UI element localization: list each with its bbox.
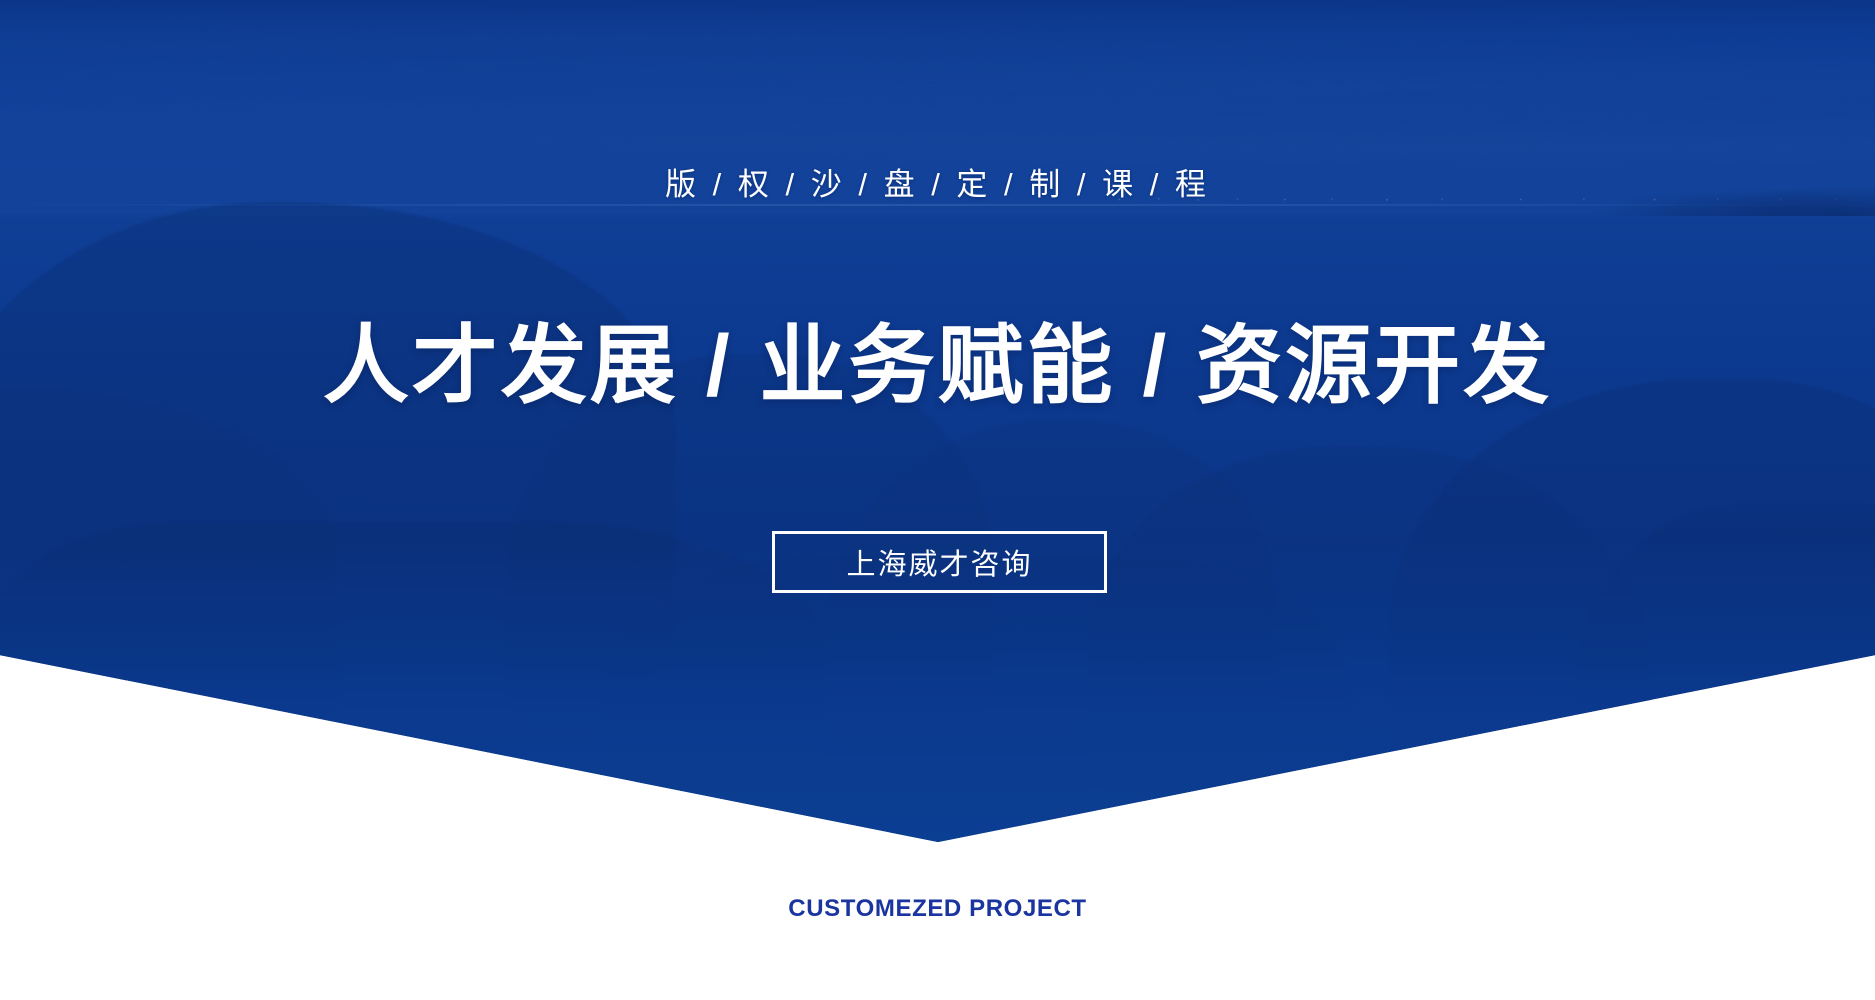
hero-title: 人才发展 / 业务赋能 / 资源开发 xyxy=(0,320,1875,413)
hero-subtitle: 版 / 权 / 沙 / 盘 / 定 / 制 / 课 / 程 xyxy=(0,166,1875,203)
company-cta-button[interactable]: 上海威才咨询 xyxy=(772,531,1107,593)
slide-canvas: 版 / 权 / 沙 / 盘 / 定 / 制 / 课 / 程 人才发展 / 业务赋… xyxy=(0,0,1875,1000)
footer-caption: CUSTOMEZED PROJECT xyxy=(0,895,1875,923)
hero-banner xyxy=(0,0,1875,842)
